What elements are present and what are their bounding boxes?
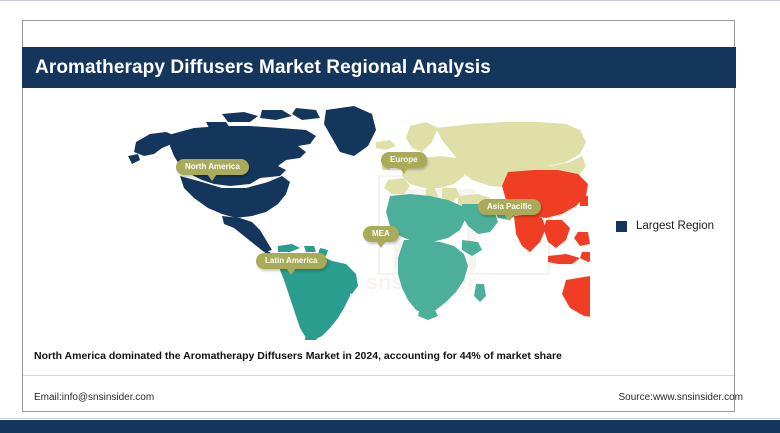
map-callout-label: North America bbox=[185, 162, 240, 171]
map-callout-asia-pacific[interactable]: Asia Pacific bbox=[478, 199, 541, 215]
title-band: Aromatherapy Diffusers Market Regional A… bbox=[22, 47, 736, 88]
legend-label-largest-region: Largest Region bbox=[636, 220, 714, 232]
map-callout-north-america[interactable]: North America bbox=[176, 159, 249, 175]
map-callout-europe[interactable]: Europe bbox=[381, 152, 427, 168]
map-region-north-america[interactable] bbox=[128, 106, 376, 266]
map-callout-mea[interactable]: MEA bbox=[363, 226, 399, 242]
bottom-accent-bar bbox=[0, 420, 780, 433]
world-map-svg bbox=[110, 100, 590, 340]
map-callout-label: MEA bbox=[372, 229, 390, 238]
map-callout-latin-america[interactable]: Latin America bbox=[256, 253, 327, 269]
footer-email: Email:info@snsinsider.com bbox=[34, 392, 154, 403]
map-callout-label: Latin America bbox=[265, 256, 318, 265]
canvas-bottom-rule bbox=[0, 418, 780, 419]
caption-text: North America dominated the Aromatherapy… bbox=[34, 350, 562, 362]
map-callout-label: Europe bbox=[390, 155, 418, 164]
footer-divider bbox=[23, 375, 734, 376]
legend: Largest Region bbox=[616, 220, 714, 232]
legend-swatch-largest-region bbox=[616, 221, 627, 232]
map-region-asia-pacific[interactable] bbox=[502, 170, 590, 328]
footer-source: Source:www.snsinsider.com bbox=[619, 392, 744, 403]
world-map bbox=[110, 100, 590, 340]
page-title: Aromatherapy Diffusers Market Regional A… bbox=[35, 57, 491, 79]
infographic-canvas: Aromatherapy Diffusers Market Regional A… bbox=[0, 0, 780, 433]
canvas-top-rule bbox=[0, 0, 780, 1]
map-callout-label: Asia Pacific bbox=[487, 202, 532, 211]
